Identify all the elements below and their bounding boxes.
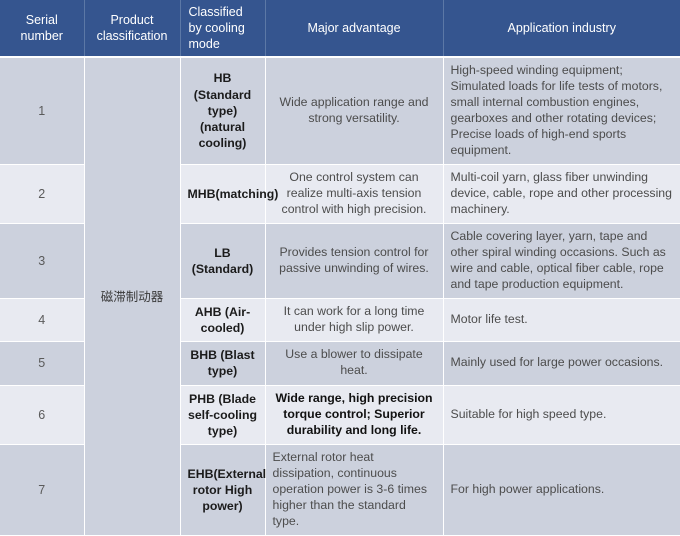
cell-application-industry: Suitable for high speed type. bbox=[443, 385, 680, 445]
column-header-serial-number-label: Serial number bbox=[21, 13, 63, 43]
cell-cooling-mode: MHB(matching) bbox=[180, 164, 265, 223]
table-row: 1 磁滞制动器 HB (Standard type) (natural cool… bbox=[0, 57, 680, 164]
cell-serial-number: 5 bbox=[0, 342, 84, 385]
cell-major-advantage: External rotor heat dissipation, continu… bbox=[265, 445, 443, 536]
cell-application-industry: Mainly used for large power occasions. bbox=[443, 342, 680, 385]
table-header: Serial number Product classification Cla… bbox=[0, 0, 680, 57]
column-header-cooling-mode-label: Classified by cooling mode bbox=[187, 4, 259, 52]
cell-application-industry: Cable covering layer, yarn, tape and oth… bbox=[443, 223, 680, 298]
cell-application-industry: Multi-coil yarn, glass fiber unwinding d… bbox=[443, 164, 680, 223]
column-header-serial-number: Serial number bbox=[0, 0, 84, 57]
cell-serial-number: 7 bbox=[0, 445, 84, 536]
cell-cooling-mode: LB (Standard) bbox=[180, 223, 265, 298]
column-header-product-classification-label: Product classification bbox=[97, 13, 168, 43]
cell-major-advantage: Wide range, high precision torque contro… bbox=[265, 385, 443, 445]
table-body: 1 磁滞制动器 HB (Standard type) (natural cool… bbox=[0, 57, 680, 536]
cell-major-advantage: Use a blower to dissipate heat. bbox=[265, 342, 443, 385]
cell-cooling-mode: BHB (Blast type) bbox=[180, 342, 265, 385]
cell-cooling-mode: HB (Standard type) (natural cooling) bbox=[180, 57, 265, 164]
header-row: Serial number Product classification Cla… bbox=[0, 0, 680, 57]
cell-application-industry: Motor life test. bbox=[443, 298, 680, 341]
cell-application-industry: For high power applications. bbox=[443, 445, 680, 536]
cell-serial-number: 2 bbox=[0, 164, 84, 223]
cell-major-advantage: Provides tension control for passive unw… bbox=[265, 223, 443, 298]
cell-cooling-mode: PHB (Blade self-cooling type) bbox=[180, 385, 265, 445]
column-header-application-industry-label: Application industry bbox=[508, 21, 616, 35]
cell-serial-number: 3 bbox=[0, 223, 84, 298]
product-specification-table: Serial number Product classification Cla… bbox=[0, 0, 680, 536]
column-header-product-classification: Product classification bbox=[84, 0, 180, 57]
cell-serial-number: 4 bbox=[0, 298, 84, 341]
cell-major-advantage: It can work for a long time under high s… bbox=[265, 298, 443, 341]
cell-major-advantage: One control system can realize multi-axi… bbox=[265, 164, 443, 223]
column-header-application-industry: Application industry bbox=[443, 0, 680, 57]
cell-cooling-mode: EHB(External rotor High power) bbox=[180, 445, 265, 536]
column-header-major-advantage-label: Major advantage bbox=[307, 21, 400, 35]
cell-serial-number: 6 bbox=[0, 385, 84, 445]
column-header-major-advantage: Major advantage bbox=[265, 0, 443, 57]
cell-product-classification: 磁滞制动器 bbox=[84, 57, 180, 536]
cell-application-industry: High-speed winding equipment; Simulated … bbox=[443, 57, 680, 164]
cell-serial-number: 1 bbox=[0, 57, 84, 164]
cell-cooling-mode: AHB (Air-cooled) bbox=[180, 298, 265, 341]
cell-major-advantage: Wide application range and strong versat… bbox=[265, 57, 443, 164]
column-header-cooling-mode: Classified by cooling mode bbox=[180, 0, 265, 57]
